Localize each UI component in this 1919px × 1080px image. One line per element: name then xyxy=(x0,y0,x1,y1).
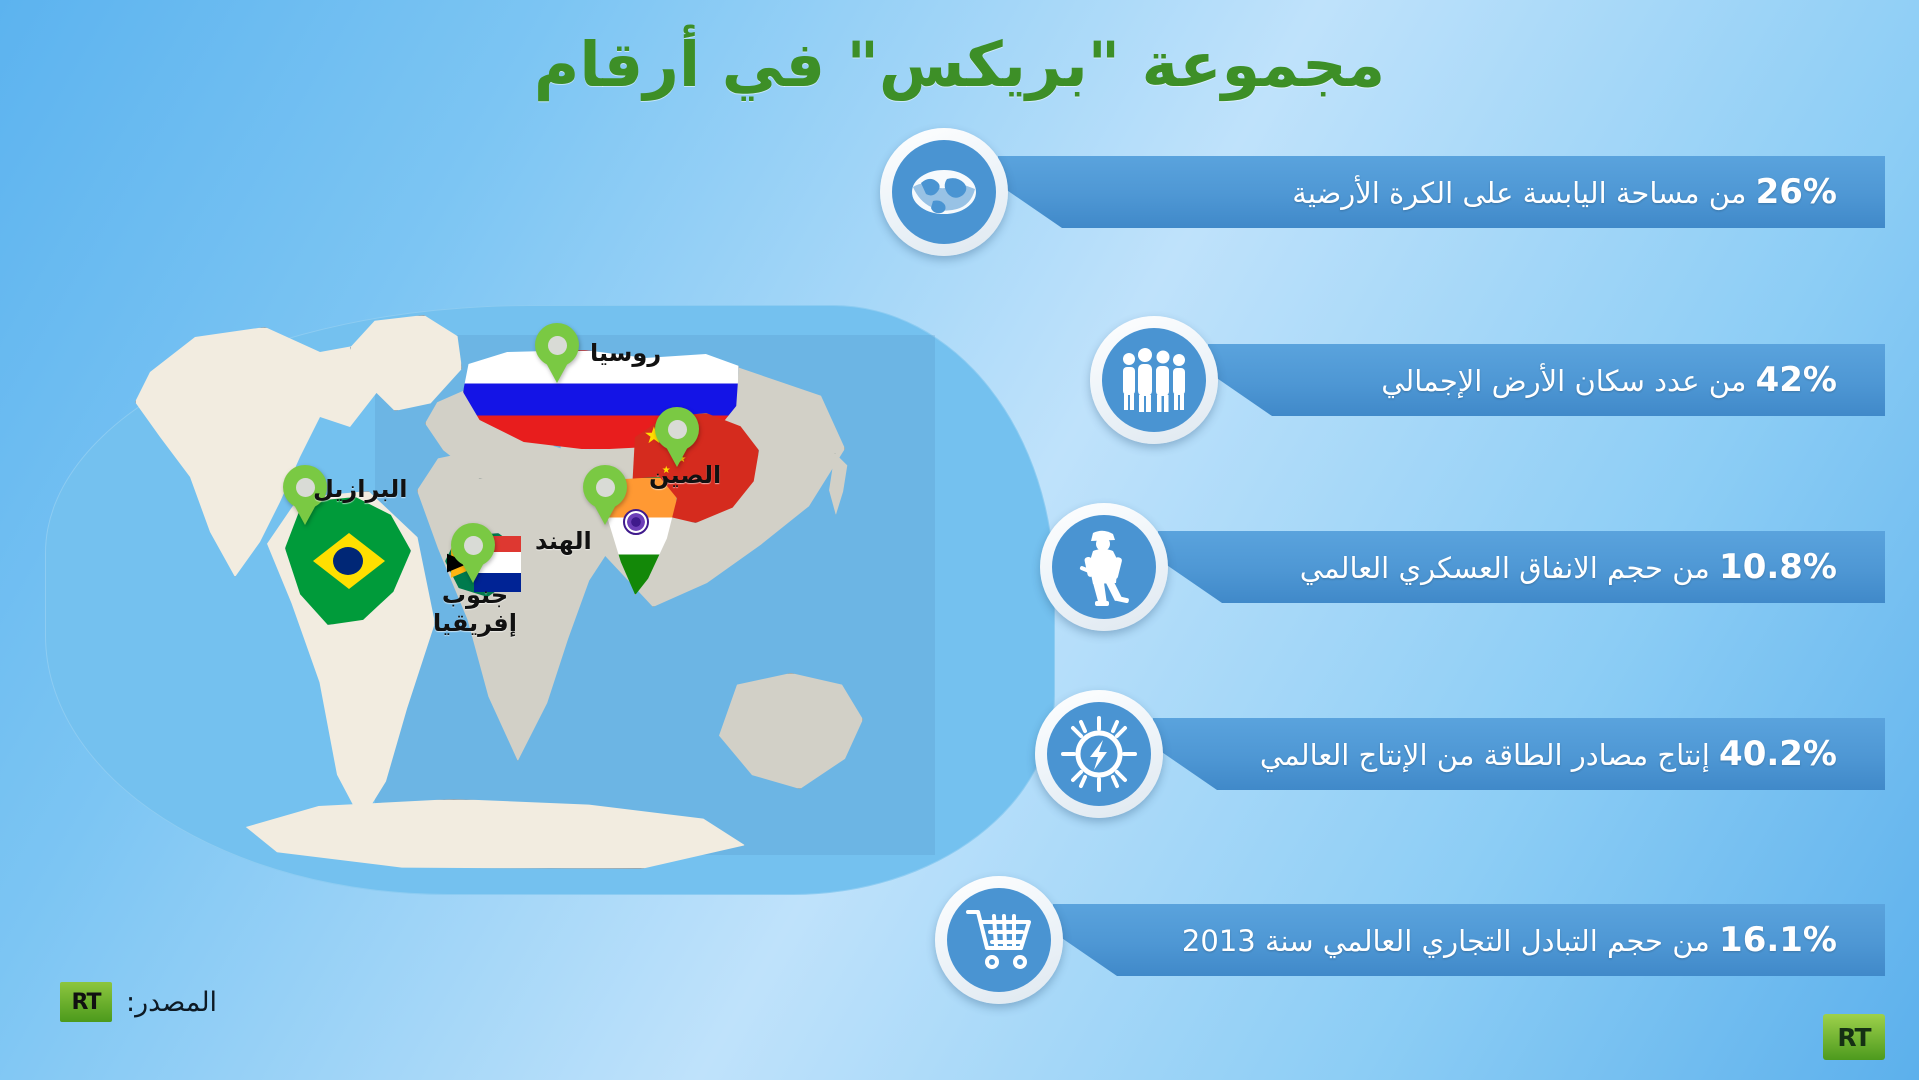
energy-sun-icon xyxy=(1047,702,1151,806)
stat-row-3[interactable]: 10.8% من حجم الانفاق العسكري العالمي xyxy=(1040,525,1885,609)
stat-percent-3: 10.8% xyxy=(1719,547,1837,587)
people-icon xyxy=(1102,328,1206,432)
world-map: ★ ★ ★ ★ ★ روسيا الصين الهند البرازيل جنو… xyxy=(45,305,1055,895)
stat-text-4: 40.2% إنتاج مصادر الطاقة من الإنتاج العا… xyxy=(1260,734,1851,774)
map-label-south-africa-line1: جنوب xyxy=(430,583,520,608)
stat-ribbon-2: 42% من عدد سكان الأرض الإجمالي xyxy=(1208,344,1885,416)
stat-ribbon-5: 16.1% من حجم التبادل التجاري العالمي سنة… xyxy=(1053,904,1885,976)
stat-ribbon-1: 26% من مساحة اليابسة على الكرة الأرضية xyxy=(998,156,1885,228)
stat-label-1: من مساحة اليابسة على الكرة الأرضية xyxy=(1292,176,1746,210)
stat-badge-2[interactable] xyxy=(1090,316,1218,444)
stat-row-2[interactable]: 42% من عدد سكان الأرض الإجمالي xyxy=(1090,338,1885,422)
stat-percent-2: 42% xyxy=(1756,360,1837,400)
stat-percent-5: 16.1% xyxy=(1719,920,1837,960)
stat-text-1: 26% من مساحة اليابسة على الكرة الأرضية xyxy=(1292,172,1851,212)
stat-percent-4: 40.2% xyxy=(1719,734,1837,774)
source-attribution: المصدر: RT xyxy=(60,982,217,1022)
stat-badge-3[interactable] xyxy=(1040,503,1168,631)
stat-ribbon-4: 40.2% إنتاج مصادر الطاقة من الإنتاج العا… xyxy=(1153,718,1885,790)
brazil-flag-globe xyxy=(333,547,363,575)
soldier-icon xyxy=(1052,515,1156,619)
source-label: المصدر: xyxy=(126,987,217,1018)
rt-logo-icon: RT xyxy=(60,982,112,1022)
stat-row-5[interactable]: 16.1% من حجم التبادل التجاري العالمي سنة… xyxy=(935,898,1885,982)
map-label-brazil: البرازيل xyxy=(313,477,407,502)
map-label-china: الصين xyxy=(649,463,721,488)
stat-ribbon-3: 10.8% من حجم الانفاق العسكري العالمي xyxy=(1158,531,1885,603)
map-pin-russia[interactable] xyxy=(535,323,579,381)
stat-text-2: 42% من عدد سكان الأرض الإجمالي xyxy=(1381,360,1851,400)
map-label-russia: روسيا xyxy=(590,341,661,366)
page-title: مجموعة "بريكس" في أرقام xyxy=(0,28,1919,101)
pin-tail-icon xyxy=(293,503,317,525)
map-pin-india[interactable] xyxy=(583,465,627,523)
map-label-india: الهند xyxy=(535,529,592,554)
globe-icon xyxy=(892,140,996,244)
stat-row-1[interactable]: 26% من مساحة اليابسة على الكرة الأرضية xyxy=(880,150,1885,234)
stat-label-5: من حجم التبادل التجاري العالمي سنة 2013 xyxy=(1182,924,1710,958)
stat-label-4: إنتاج مصادر الطاقة من الإنتاج العالمي xyxy=(1260,738,1710,772)
stat-badge-4[interactable] xyxy=(1035,690,1163,818)
stat-label-3: من حجم الانفاق العسكري العالمي xyxy=(1300,551,1710,585)
stat-text-5: 16.1% من حجم التبادل التجاري العالمي سنة… xyxy=(1182,920,1851,960)
stat-row-4[interactable]: 40.2% إنتاج مصادر الطاقة من الإنتاج العا… xyxy=(1035,712,1885,796)
map-pin-china[interactable] xyxy=(655,407,699,465)
stat-badge-1[interactable] xyxy=(880,128,1008,256)
stat-label-2: من عدد سكان الأرض الإجمالي xyxy=(1381,364,1746,398)
pin-tail-icon xyxy=(461,561,485,583)
pin-tail-icon xyxy=(593,503,617,525)
stat-badge-5[interactable] xyxy=(935,876,1063,1004)
stat-percent-1: 26% xyxy=(1756,172,1837,212)
map-pin-south-africa[interactable] xyxy=(451,523,495,581)
stat-text-3: 10.8% من حجم الانفاق العسكري العالمي xyxy=(1300,547,1851,587)
shopping-cart-icon xyxy=(947,888,1051,992)
pin-tail-icon xyxy=(545,361,569,383)
corner-rt-logo-icon: RT xyxy=(1823,1014,1885,1060)
map-label-south-africa-line2: إفريقيا xyxy=(430,611,520,636)
